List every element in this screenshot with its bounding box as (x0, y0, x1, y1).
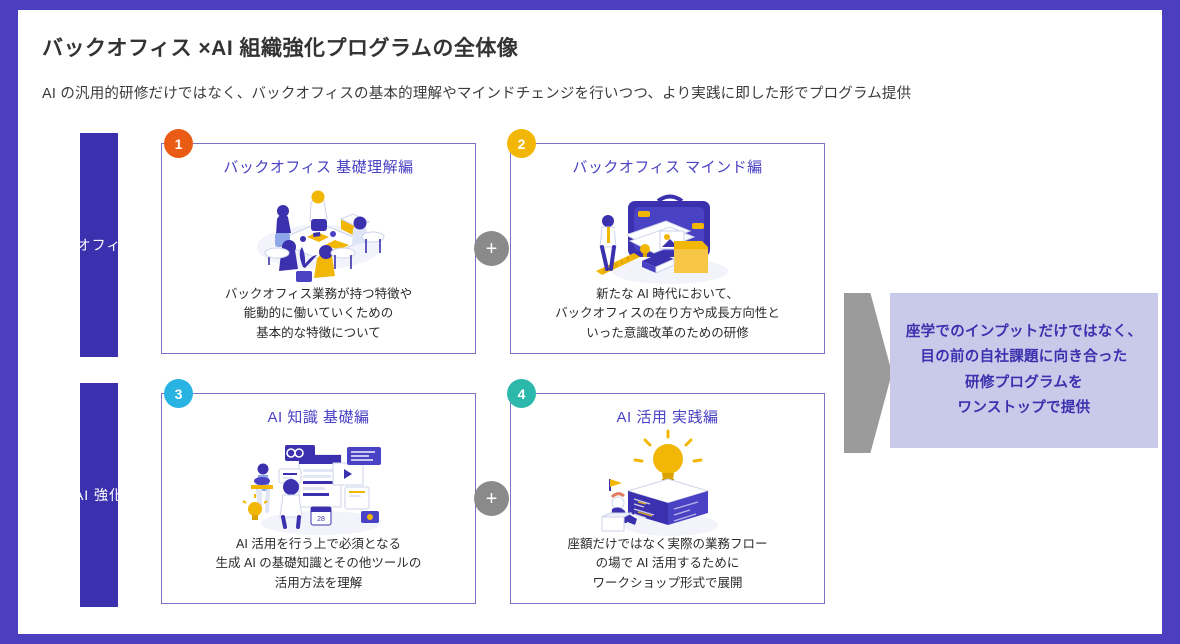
page-subtitle: AI の汎用的研修だけではなく、バックオフィスの基本的理解やマインドチェンジを行… (42, 82, 911, 103)
card-description: 座額だけではなく実際の業務フローの場で AI 活用するためにワークショップ形式で… (517, 535, 818, 593)
program-card-1[interactable]: バックオフィス 基礎理解編 (161, 143, 476, 354)
plus-connector-top: + (474, 231, 509, 266)
svg-text:28: 28 (317, 516, 325, 523)
category-bar-backoffice: バックオフィス理解 (80, 133, 118, 357)
result-text: 座学でのインプットだけではなく、目の前の自社課題に向き合った研修プログラムをワン… (906, 320, 1142, 422)
online-learning-illustration: 28 (162, 428, 475, 540)
team-meeting-illustration (162, 178, 475, 290)
right-arrow-icon (844, 293, 892, 453)
category-bar-label: AI 強化 (80, 485, 118, 505)
step-badge-2: 2 (507, 129, 536, 158)
card-description: AI 活用を行う上で必須となる生成 AI の基礎知識とその他ツールの活用方法を理… (168, 535, 469, 593)
card-title: バックオフィス 基礎理解編 (162, 156, 475, 177)
category-bar-ai: AI 強化 (80, 383, 118, 607)
step-badge-1: 1 (164, 129, 193, 158)
card-title: バックオフィス マインド編 (511, 156, 824, 177)
idea-machine-illustration (511, 428, 824, 540)
card-description: 新たな AI 時代において、バックオフィスの在り方や成長方向性といった意識改革の… (517, 285, 818, 343)
program-card-4[interactable]: AI 活用 実践編 (510, 393, 825, 604)
step-badge-4: 4 (507, 379, 536, 408)
card-description: バックオフィス業務が持つ特徴や能動的に働いていくための基本的な特徴について (168, 285, 469, 343)
card-title: AI 活用 実践編 (511, 406, 824, 427)
page-title: バックオフィス ×AI 組織強化プログラムの全体像 (42, 32, 518, 62)
card-title: AI 知識 基礎編 (162, 406, 475, 427)
step-badge-3: 3 (164, 379, 193, 408)
slide-canvas: バックオフィス ×AI 組織強化プログラムの全体像 AI の汎用的研修だけではな… (18, 10, 1162, 634)
plus-connector-bottom: + (474, 481, 509, 516)
program-card-3[interactable]: AI 知識 基礎編 (161, 393, 476, 604)
briefcase-folder-illustration (511, 178, 824, 290)
result-callout: 座学でのインプットだけではなく、目の前の自社課題に向き合った研修プログラムをワン… (890, 293, 1158, 448)
program-card-2[interactable]: バックオフィス マインド編 (510, 143, 825, 354)
category-bar-label: バックオフィス理解 (80, 235, 118, 255)
